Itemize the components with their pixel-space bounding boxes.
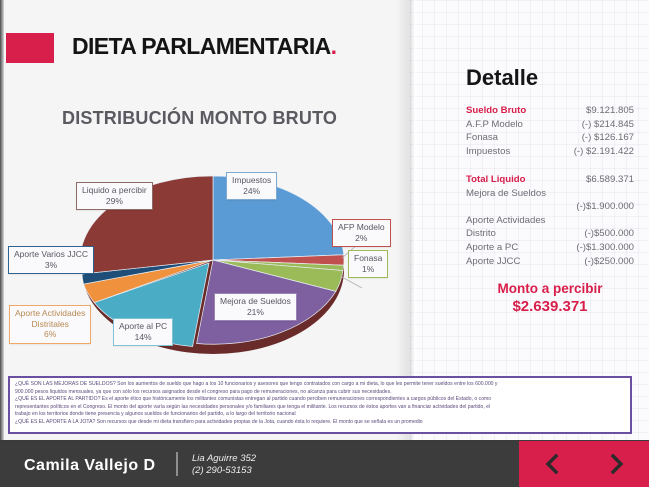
chart-title: DISTRIBUCIÓN MONTO BRUTO [62,108,337,129]
chevron-right-icon[interactable] [607,452,627,476]
pie-label-aporte-pc-name: Aporte al PC [119,321,167,331]
detalle-row-aporte-pc: Aporte a PC (-)$1.300.000 [466,241,634,255]
pie-label-afp-modelo-pct: 2% [338,233,385,244]
footnote-line-1: ¿QUÉ SON LAS MEJORAS DE SUELDOS? Son los… [15,381,625,389]
detalle-label-total-liquido: Total Liquido [466,173,526,187]
pie-label-aporte-distritales-name2: Distritales [15,319,85,330]
detalle-row-aporte-actividades: Aporte Actividades [466,214,634,228]
nav-controls [519,441,649,487]
pie-label-liquido-percibir: Liquido a percibir 29% [76,182,153,210]
detalle-value-aporte-jjcc: (-)$250.000 [584,255,634,269]
pie-label-aporte-distritales-pct: 6% [15,329,85,340]
detalle-label-mejora-sueldos: Mejora de Sueldos [466,188,546,199]
pie-label-aporte-jjcc: Aporte Varios JJCC 3% [8,246,94,274]
pie-label-mejora-sueldos-pct: 21% [220,307,291,318]
detalle-label-distrito: Distrito [466,227,496,241]
footnote-line-5: trabajo en los territorios donde tiene p… [15,411,625,419]
pie-label-afp-modelo-name: AFP Modelo [338,222,385,232]
detalle-value-distrito: (-)$500.000 [584,227,634,241]
detalle-value-aporte-pc: (-)$1.300.000 [576,241,634,255]
contact-address: Lia Aguirre 352 [192,453,256,465]
footnote-line-6: ¿QUÉ ES EL APORTE A LA JOTA? Son recurso… [15,419,625,427]
pie-label-mejora-sueldos-name: Mejora de Sueldos [220,296,291,306]
contact-phone: (2) 290-53153 [192,465,256,477]
chevron-left-icon[interactable] [542,452,562,476]
pie-label-aporte-pc: Aporte al PC 14% [113,318,173,346]
pie-label-aporte-distritales-name: Aporte Actividades [15,308,85,318]
detalle-value-sueldo-bruto: $9.121.805 [586,104,634,118]
monto-label: Monto a percibir [466,280,634,297]
person-name: Camila Vallejo D [24,457,156,475]
detalle-row-impuestos: Impuestos (-) $2.191.422 [466,145,634,159]
pie-label-impuestos: Impuestos 24% [226,172,277,200]
pie-label-aporte-jjcc-name: Aporte Varios JJCC [14,249,88,259]
pie-label-aporte-pc-pct: 14% [119,332,167,343]
pie-label-liquido-percibir-name: Liquido a percibir [82,185,147,195]
detalle-row-sueldo-bruto: Sueldo Bruto $9.121.805 [466,104,634,118]
detalle-value-total-liquido: $6.589.371 [586,173,634,187]
detalle-value-afp-modelo: (-) $214.845 [582,118,634,132]
detalle-group-bruto: Sueldo Bruto $9.121.805 A.F.P Modelo (-)… [466,104,634,158]
slide-root: DIETA PARLAMENTARIA. DISTRIBUCIÓN MONTO … [0,0,649,487]
detalle-label-afp-modelo: A.F.P Modelo [466,118,523,132]
detalle-label-aporte-actividades: Aporte Actividades [466,215,545,226]
detalle-value-impuestos: (-) $2.191.422 [574,145,634,159]
footnote-box: ¿QUÉ SON LAS MEJORAS DE SUELDOS? Son los… [8,376,632,434]
detalle-row-mejora-sueldos-value: (-)$1.900.000 [466,200,634,214]
detalle-label-impuestos: Impuestos [466,145,510,159]
pie-label-fonasa-name: Fonasa [354,253,382,263]
pie-label-impuestos-name: Impuestos [232,175,271,185]
footer-divider [176,452,178,476]
brand-title-text: DIETA PARLAMENTARIA [72,33,331,59]
page-left-edge [0,0,4,440]
pie-label-afp-modelo: AFP Modelo 2% [332,219,391,247]
detalle-value-fonasa: (-) $126.167 [582,131,634,145]
pie-label-liquido-percibir-pct: 29% [82,196,147,207]
detalle-heading: Detalle [466,65,538,91]
pie-label-aporte-distritales: Aporte Actividades Distritales 6% [9,305,91,344]
detalle-group-liquido: Total Liquido $6.589.371 Mejora de Sueld… [466,173,634,268]
monto-value: $2.639.371 [466,297,634,316]
detalle-row-mejora-sueldos: Mejora de Sueldos [466,187,634,201]
detalle-label-fonasa: Fonasa [466,131,498,145]
pie-label-impuestos-pct: 24% [232,186,271,197]
pie-label-fonasa: Fonasa 1% [348,250,388,278]
detalle-row-distrito: Distrito (-)$500.000 [466,227,634,241]
detalle-row-aporte-jjcc: Aporte JJCC (-)$250.000 [466,255,634,269]
contact-info: Lia Aguirre 352 (2) 290-53153 [192,453,256,477]
pie-label-fonasa-pct: 1% [354,264,382,275]
detalle-label-sueldo-bruto: Sueldo Bruto [466,104,526,118]
detalle-row-afp-modelo: A.F.P Modelo (-) $214.845 [466,118,634,132]
brand-mark [6,33,54,63]
page-title: DIETA PARLAMENTARIA. [72,33,336,60]
footnote-line-4: representantes políticos en el Congreso.… [15,404,625,412]
detalle-row-fonasa: Fonasa (-) $126.167 [466,131,634,145]
pie-label-mejora-sueldos: Mejora de Sueldos 21% [214,293,297,321]
brand-title-dot: . [331,33,337,59]
monto-a-percibir: Monto a percibir $2.639.371 [466,280,634,316]
footnote-line-3: ¿QUÉ ES EL APORTE AL PARTIDO? Es el apor… [15,396,625,404]
detalle-row-total-liquido: Total Liquido $6.589.371 [466,173,634,187]
detalle-label-aporte-jjcc: Aporte JJCC [466,255,520,269]
pie-label-aporte-jjcc-pct: 3% [14,260,88,271]
detalle-value-mejora-sueldos: (-)$1.900.000 [576,201,634,212]
detalle-label-aporte-pc: Aporte a PC [466,241,518,255]
